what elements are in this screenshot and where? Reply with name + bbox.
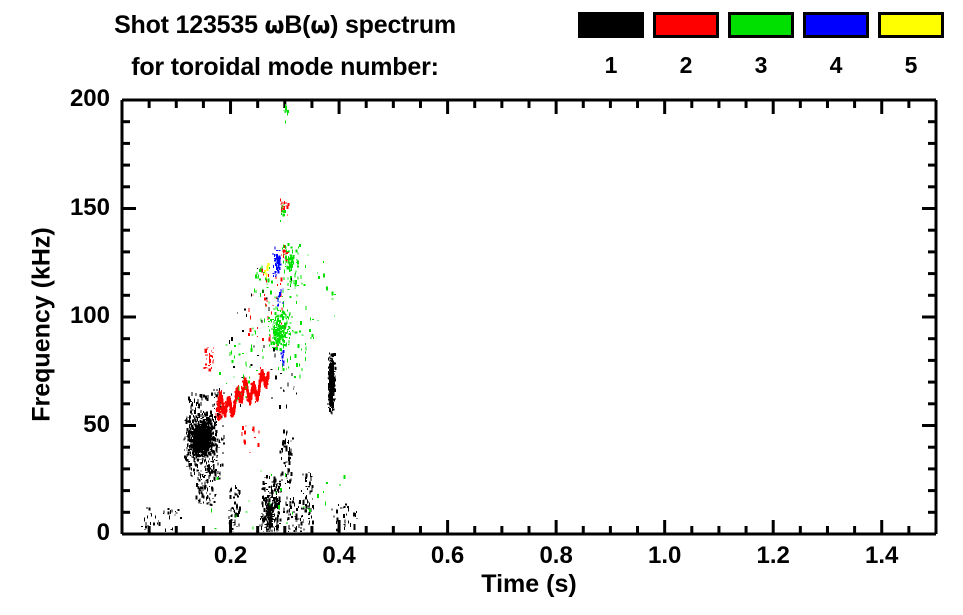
plot-area: Time (s) Frequency (kHz) 0.20.40.60.81.0…: [0, 0, 963, 615]
x-tick-label: 1.4: [842, 542, 922, 570]
x-axis-label: Time (s): [122, 570, 936, 599]
axis-ticks: [122, 100, 936, 534]
y-tick-label: 0: [20, 519, 110, 547]
y-tick-label: 200: [20, 85, 110, 113]
x-tick-label: 1.2: [733, 542, 813, 570]
x-tick-label: 0.4: [299, 542, 379, 570]
x-tick-label: 0.6: [408, 542, 488, 570]
data-points: [141, 104, 357, 537]
spectrum-scatter-plot: [0, 0, 963, 615]
x-tick-label: 0.2: [191, 542, 271, 570]
y-tick-label: 100: [20, 302, 110, 330]
x-tick-label: 1.0: [625, 542, 705, 570]
plot-frame: [122, 100, 936, 534]
y-tick-label: 150: [20, 194, 110, 222]
x-tick-label: 0.8: [516, 542, 596, 570]
y-tick-label: 50: [20, 411, 110, 439]
